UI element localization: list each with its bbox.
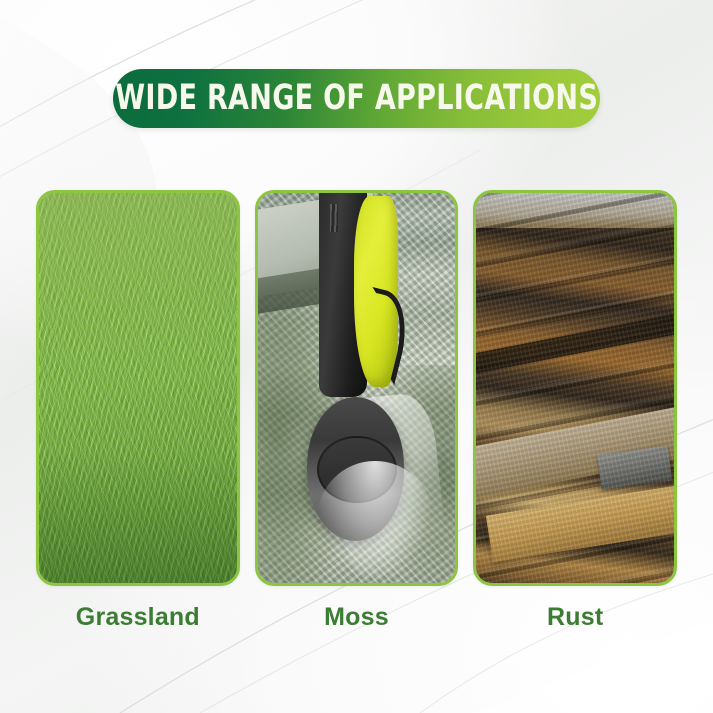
application-cards-row [36, 190, 677, 586]
washer-brand-logo [330, 204, 338, 232]
application-card-grassland [36, 190, 240, 586]
label-grassland: Grassland [36, 602, 240, 633]
pressure-washer-tool [305, 190, 408, 450]
page-title: WIDE RANGE OF APPLICATIONS [115, 81, 598, 116]
water-spray [317, 461, 432, 578]
moss-pressure-washer-photo [258, 193, 456, 583]
grass-lawn-photo [39, 193, 237, 583]
header-banner-container: WIDE RANGE OF APPLICATIONS [0, 69, 713, 128]
header-banner: WIDE RANGE OF APPLICATIONS [113, 69, 600, 128]
rust-grain-texture [476, 193, 674, 583]
rusty-steel-plates-photo [476, 193, 674, 583]
grass-highlight-top [39, 193, 237, 349]
application-labels-row: Grassland Moss Rust [36, 602, 677, 633]
grass-shadow-bottom [39, 450, 237, 583]
application-card-moss [255, 190, 459, 586]
label-rust: Rust [473, 602, 677, 633]
label-moss: Moss [255, 602, 459, 633]
application-card-rust [473, 190, 677, 586]
applications-poster: WIDE RANGE OF APPLICATIONS [0, 0, 713, 713]
